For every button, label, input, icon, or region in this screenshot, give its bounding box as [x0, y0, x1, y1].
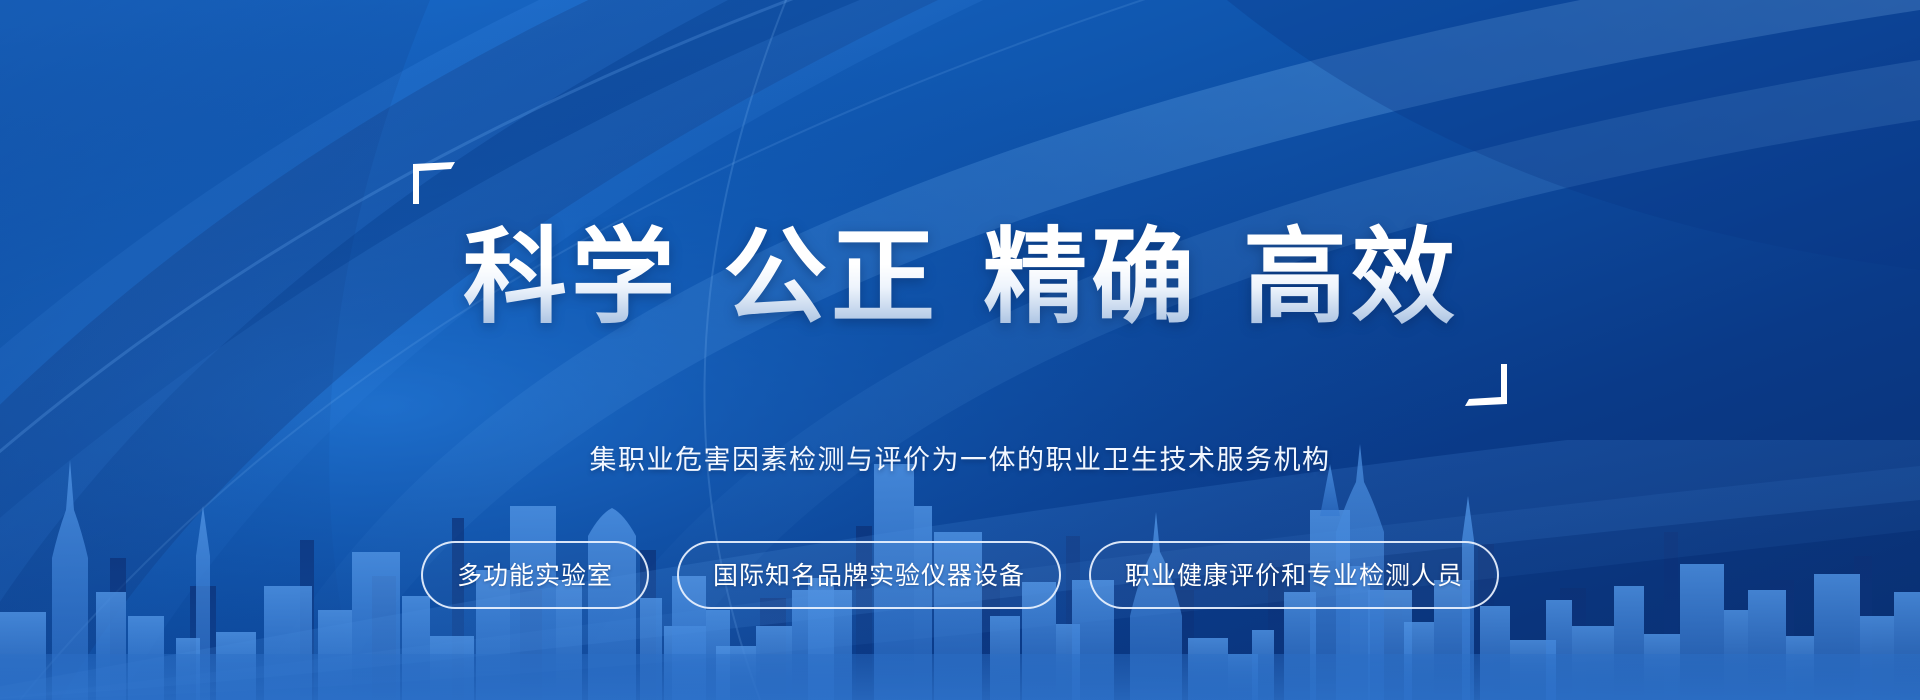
- quote-bracket-close-icon: [1463, 362, 1509, 408]
- headline-word-3: 精确: [983, 220, 1199, 336]
- page-title: 科学公正精确高效: [463, 222, 1459, 334]
- promotional-banner: 科学公正精确高效 集职业危害因素检测与评价为一体的职业卫生技术服务机构 多功能实…: [0, 0, 1920, 700]
- headline-block: 科学公正精确高效: [411, 152, 1509, 404]
- headline-word-1: 科学: [463, 220, 679, 336]
- headline-word-4: 高效: [1243, 220, 1459, 336]
- quote-bracket-open-icon: [411, 160, 457, 206]
- feature-pill-lab[interactable]: 多功能实验室: [421, 541, 649, 609]
- headline-word-2: 公正: [723, 220, 939, 336]
- feature-pill-staff[interactable]: 职业健康评价和专业检测人员: [1089, 541, 1499, 609]
- feature-pill-equipment[interactable]: 国际知名品牌实验仪器设备: [677, 541, 1061, 609]
- feature-pill-group: 多功能实验室 国际知名品牌实验仪器设备 职业健康评价和专业检测人员: [421, 541, 1499, 609]
- banner-subtitle: 集职业危害因素检测与评价为一体的职业卫生技术服务机构: [590, 438, 1331, 477]
- banner-content: 科学公正精确高效 集职业危害因素检测与评价为一体的职业卫生技术服务机构 多功能实…: [0, 0, 1920, 700]
